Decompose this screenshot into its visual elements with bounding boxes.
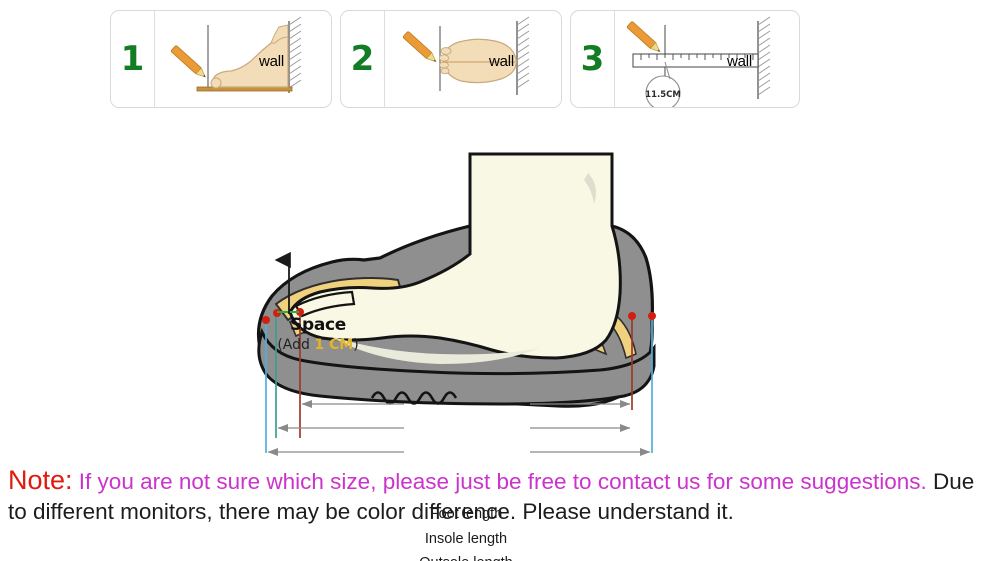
space-sub-prefix: (Add: [277, 337, 314, 353]
step-panel-2: 2: [340, 10, 562, 108]
ruler-measure-icon: 11.5CM: [615, 11, 800, 108]
step-number-2: 2: [351, 42, 375, 76]
insole-length-label: Insole length: [418, 531, 514, 547]
space-label-group: Space (Add 1 CM): [248, 316, 388, 353]
step-number-cell-3: 3: [571, 11, 615, 107]
step-number-3: 3: [581, 42, 605, 76]
step-number-cell-1: 1: [111, 11, 155, 107]
step-illustration-2: [385, 11, 561, 107]
step-panel-3: 3: [570, 10, 800, 108]
foot-side-view-icon: [155, 11, 332, 108]
outsole-length-label: Outsole length: [412, 555, 520, 561]
note-heading: Note:: [8, 465, 73, 495]
step-number-1: 1: [121, 42, 145, 76]
space-sub-suffix: ): [353, 337, 358, 353]
step3-measure-value: 11.5CM: [645, 90, 681, 100]
space-subtitle: (Add 1 CM): [248, 337, 388, 353]
size-guide-page: 1: [0, 0, 1000, 561]
foot-top-view-icon: [385, 11, 562, 108]
step-illustration-3: 11.5CM: [615, 11, 799, 107]
step-illustration-1: [155, 11, 331, 107]
wall-label-1: wall: [259, 53, 284, 70]
note-magenta-text: If you are not sure which size, please j…: [73, 469, 927, 494]
step-panel-1: 1: [110, 10, 332, 108]
foot-in-shoe-diagram: Space (Add 1 CM) Foot length Insole leng…: [0, 108, 1000, 463]
space-sub-value: 1 CM: [314, 337, 353, 353]
wall-label-3: wall: [727, 53, 752, 70]
note-block: Note: If you are not sure which size, pl…: [8, 463, 998, 526]
step-number-cell-2: 2: [341, 11, 385, 107]
wall-label-2: wall: [489, 53, 514, 70]
space-title: Space: [248, 316, 388, 336]
shoe-cross-section-svg: [0, 108, 1000, 463]
measurement-steps-row: 1: [110, 10, 800, 108]
